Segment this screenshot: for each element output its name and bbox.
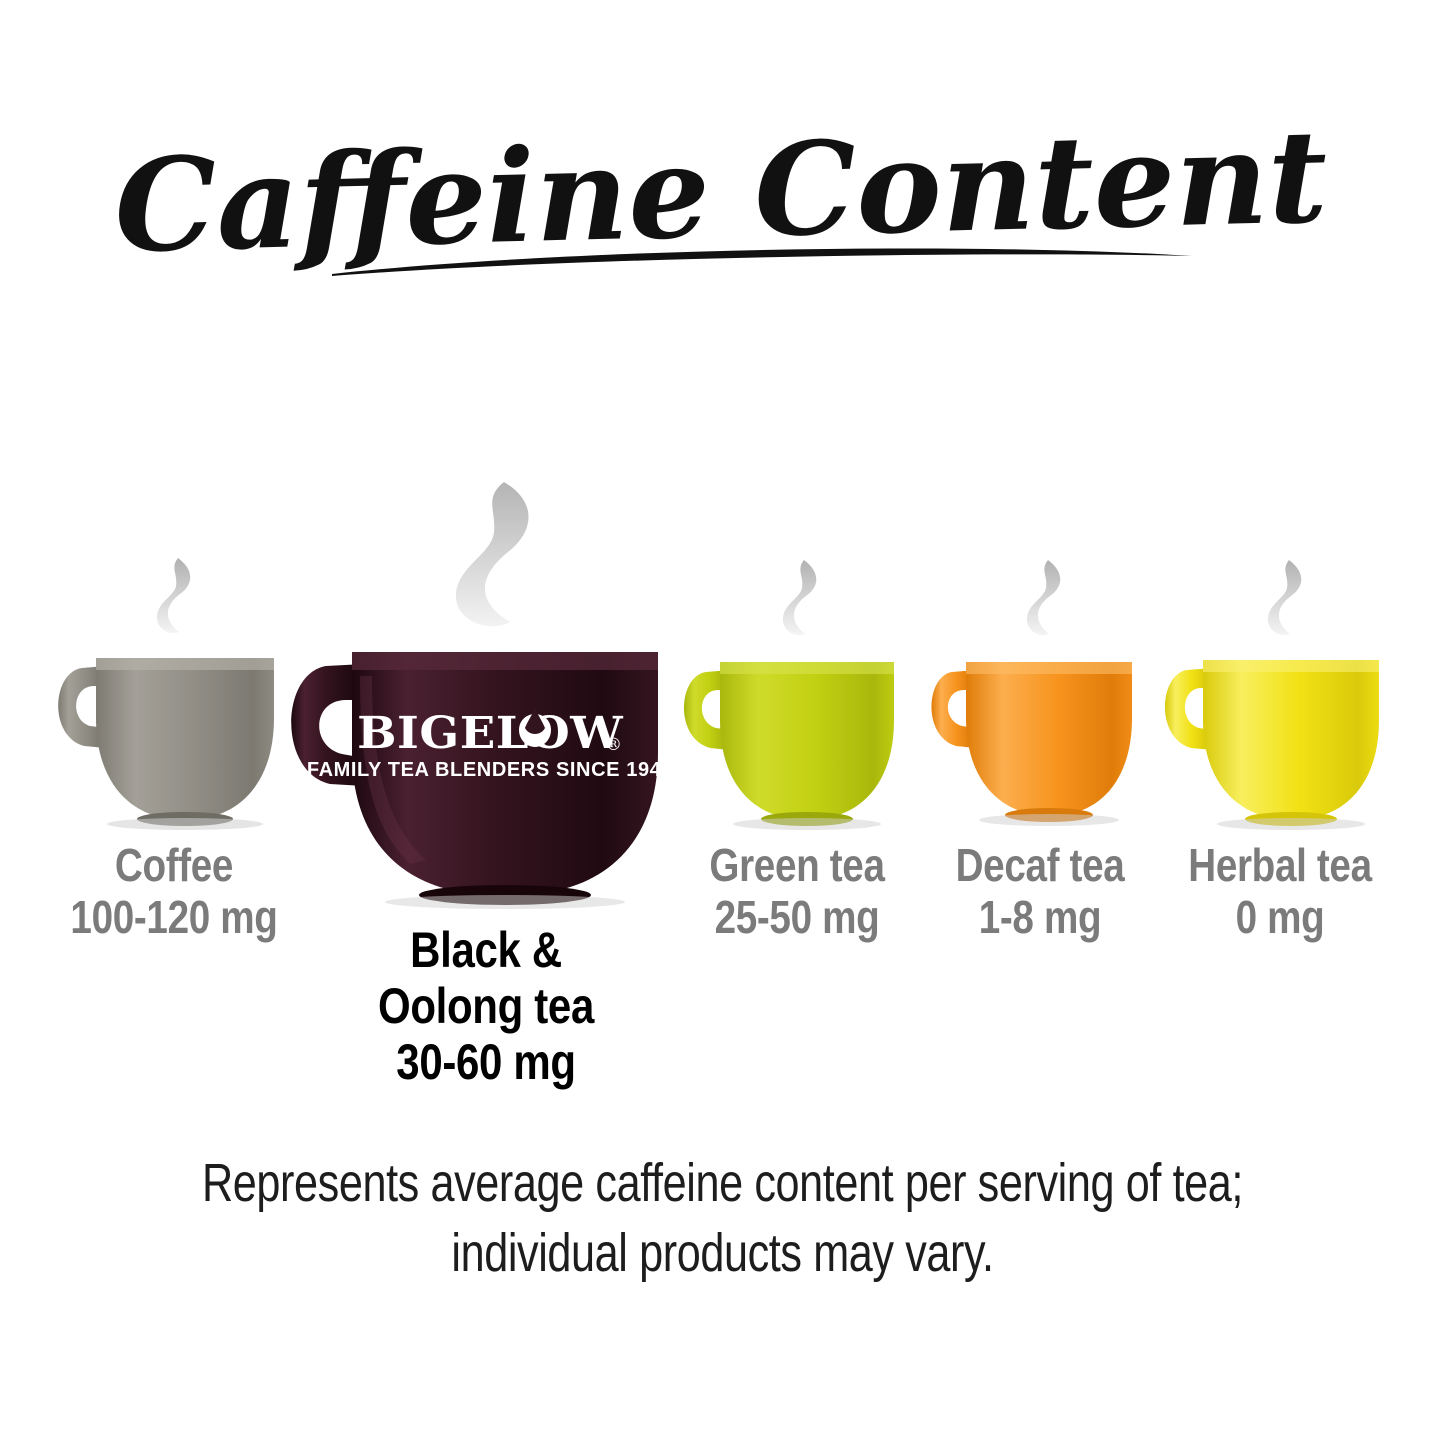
bigelow-tagline: FAMILY TEA BLENDERS SINCE 1945 — [307, 759, 673, 781]
cup-rim — [96, 658, 274, 670]
footnote: Represents average caffeine content per … — [145, 1148, 1301, 1288]
cup-shadow — [1217, 818, 1365, 830]
steam-icon — [1027, 560, 1060, 635]
cup-rim — [966, 662, 1132, 674]
registered-trademark-icon: ® — [605, 735, 622, 755]
cup-unit-herbal-tea: Herbal tea 0 mg — [1155, 540, 1405, 920]
cup-label-amount: 30-60 mg — [343, 1034, 629, 1090]
cup-label-amount: 0 mg — [1137, 892, 1423, 944]
cup-label-name-line1: Black & — [343, 922, 629, 978]
cup-shadow — [107, 818, 263, 830]
steam-icon — [157, 558, 190, 633]
cup-bowl — [720, 662, 894, 818]
steam-icon — [456, 482, 529, 626]
bigelow-logo: BIGELOW ® FAMILY TEA BLENDERS SINCE 1945 — [307, 704, 673, 781]
cup-unit-green-tea: Green tea 25-50 mg — [672, 540, 922, 920]
cup-bowl — [96, 658, 274, 818]
cup-bowl — [966, 662, 1132, 814]
cup-unit-coffee: Coffee 100-120 mg — [44, 540, 304, 920]
cup-label-coffee: Coffee 100-120 mg — [31, 840, 317, 943]
bigelow-wordmark: BIGELOW — [357, 706, 624, 758]
cup-label-name: Coffee — [31, 840, 317, 892]
cup-label-herbal-tea: Herbal tea 0 mg — [1137, 840, 1423, 943]
cup-unit-decaf-tea: Decaf tea 1-8 mg — [920, 540, 1160, 920]
cup-label-name-line2: Oolong tea — [343, 978, 629, 1034]
cup-bowl — [1203, 660, 1379, 818]
cup-shadow — [979, 814, 1119, 826]
cup-rim — [720, 662, 894, 674]
page-title: Caffeine Content — [0, 108, 1445, 308]
cup-label-name: Herbal tea — [1137, 840, 1423, 892]
footnote-line-2: individual products may vary. — [145, 1218, 1301, 1288]
cup-rim — [352, 652, 658, 670]
cups-row: Coffee 100-120 mg — [0, 400, 1445, 920]
steam-icon — [1268, 560, 1301, 635]
steam-icon — [783, 560, 816, 635]
cup-unit-black-oolong: BIGELOW ® FAMILY TEA BLENDERS SINCE 1945… — [276, 470, 696, 920]
page-title-block: Caffeine Content — [0, 108, 1445, 308]
footnote-line-1: Represents average caffeine content per … — [145, 1148, 1301, 1218]
cup-shadow — [733, 818, 881, 830]
cup-rim — [1203, 660, 1379, 672]
cup-label-amount: 100-120 mg — [31, 892, 317, 944]
tea-cup-icon-bigelow: BIGELOW ® FAMILY TEA BLENDERS SINCE 1945 — [276, 470, 696, 920]
cup-label-black-oolong: Black & Oolong tea 30-60 mg — [343, 922, 629, 1090]
cup-shadow — [385, 895, 625, 909]
